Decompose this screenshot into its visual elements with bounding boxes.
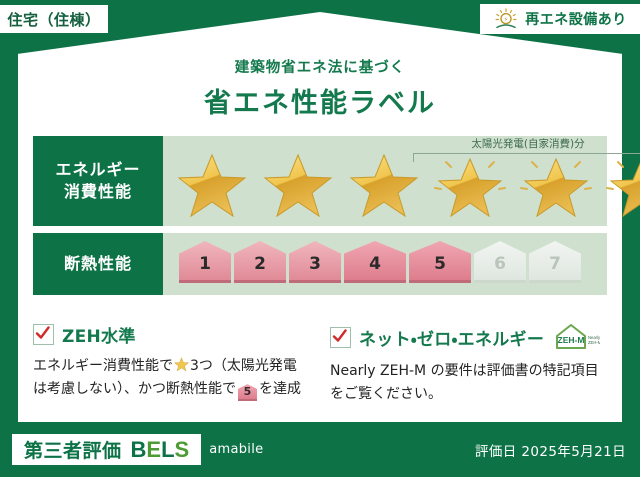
star-5 xyxy=(513,149,599,223)
star-4 xyxy=(427,149,513,223)
check-icon xyxy=(35,326,50,341)
bels-wordmark: BELS xyxy=(131,437,190,463)
star-icon-shining xyxy=(431,150,509,222)
check-icon xyxy=(332,329,347,344)
insulation-step-4: 4 xyxy=(344,241,406,283)
zeh-text-post: を達成 xyxy=(259,381,301,397)
title-block: 建築物省エネ法に基づく 省エネ性能ラベル xyxy=(0,56,640,120)
insulation-step-1: 1 xyxy=(179,241,231,283)
insulation-scale: 1 2 3 4 5 6 7 xyxy=(169,241,581,287)
energy-label-line2: 消費性能 xyxy=(64,181,132,203)
inline-star-icon xyxy=(174,357,189,372)
zeh-criterion: ZEH水準 エネルギー消費性能で3つ（太陽光発電は考慮しない）、かつ断熱性能で5… xyxy=(33,322,310,406)
energy-stars-area: 太陽光発電(自家消費)分 xyxy=(163,136,640,226)
zeh-m-logo-icon: ZEH-M Nearly ZEH-M xyxy=(554,322,600,352)
evaluation-date-label: 評価日 xyxy=(475,444,517,460)
page-title: 省エネ性能ラベル xyxy=(0,81,640,120)
dwelling-type-label: 住宅（住棟） xyxy=(7,9,100,30)
bels-logo-box: 第三者評価 BELS xyxy=(12,434,201,465)
evaluation-date: 評価日 2025年5月21日 xyxy=(475,440,626,460)
zeh-heading: ZEH水準 xyxy=(33,322,310,347)
insulation-step-5: 5 xyxy=(409,241,471,283)
insulation-scale-area: 1 2 3 4 5 6 7 xyxy=(163,233,607,295)
energy-performance-label: 住宅（住棟） ⚡ 再エネ設備あり 建築物省エネ法に基づく 省エネ性能ラベル xyxy=(0,0,640,477)
criteria-section: ZEH水準 エネルギー消費性能で3つ（太陽光発電は考慮しない）、かつ断熱性能で5… xyxy=(33,322,607,406)
energy-label-line1: エネルギー xyxy=(55,159,140,181)
dwelling-type-badge: 住宅（住棟） xyxy=(0,5,108,33)
nze-heading: ネット・ゼロ・エネルギー ZEH-M Nearly ZEH-M xyxy=(330,322,607,352)
star-rating xyxy=(169,149,640,223)
insulation-step-2: 2 xyxy=(234,241,286,283)
performance-panel: エネルギー 消費性能 太陽光発電(自家消費)分 xyxy=(33,136,607,302)
nze-description: Nearly ZEH-M の要件は評価書の特記項目をご覧ください。 xyxy=(330,360,607,406)
zeh-text-pre: エネルギー消費性能で xyxy=(33,358,173,374)
zeh-insulation-badge: 5 xyxy=(238,384,257,401)
zeh-checkbox xyxy=(33,324,54,345)
star-3 xyxy=(341,149,427,223)
star-icon xyxy=(177,152,247,220)
energy-performance-label: エネルギー 消費性能 xyxy=(33,136,163,226)
sun-icon: ⚡ xyxy=(493,8,519,30)
third-party-eval-label: 第三者評価 xyxy=(24,436,122,463)
zeh-description: エネルギー消費性能で3つ（太陽光発電は考慮しない）、かつ断熱性能で5を達成 xyxy=(33,355,310,401)
star-2 xyxy=(255,149,341,223)
star-icon xyxy=(349,152,419,220)
nze-title: ネット・ゼロ・エネルギー xyxy=(359,325,544,350)
svg-text:ZEH-M: ZEH-M xyxy=(558,335,585,345)
insulation-label-text: 断熱性能 xyxy=(64,253,132,275)
title-subtitle: 建築物省エネ法に基づく xyxy=(0,56,640,77)
insulation-step-7: 7 xyxy=(529,241,581,283)
insulation-performance-label: 断熱性能 xyxy=(33,233,163,295)
evaluation-date-value: 2025年5月21日 xyxy=(521,444,626,460)
insulation-step-3: 3 xyxy=(289,241,341,283)
zeh-title: ZEH水準 xyxy=(62,322,136,347)
star-icon-shining xyxy=(517,150,595,222)
svg-text:⚡: ⚡ xyxy=(504,15,509,23)
renewable-equipment-badge: ⚡ 再エネ設備あり xyxy=(480,4,640,34)
net-zero-energy-criterion: ネット・ゼロ・エネルギー ZEH-M Nearly ZEH-M Nearly Z… xyxy=(330,322,607,406)
renewable-label: 再エネ設備あり xyxy=(525,9,627,29)
energy-performance-row: エネルギー 消費性能 太陽光発電(自家消費)分 xyxy=(33,136,607,226)
nze-checkbox xyxy=(330,327,351,348)
insulation-step-6: 6 xyxy=(474,241,526,283)
star-icon xyxy=(263,152,333,220)
star-icon-shining xyxy=(603,150,640,222)
building-name: amabile xyxy=(209,442,263,457)
star-6 xyxy=(599,149,640,223)
footer: 第三者評価 BELS amabile 評価日 2025年5月21日 xyxy=(0,422,640,477)
star-1 xyxy=(169,149,255,223)
svg-text:ZEH-M: ZEH-M xyxy=(588,340,600,345)
insulation-performance-row: 断熱性能 1 2 3 4 5 6 7 xyxy=(33,233,607,295)
